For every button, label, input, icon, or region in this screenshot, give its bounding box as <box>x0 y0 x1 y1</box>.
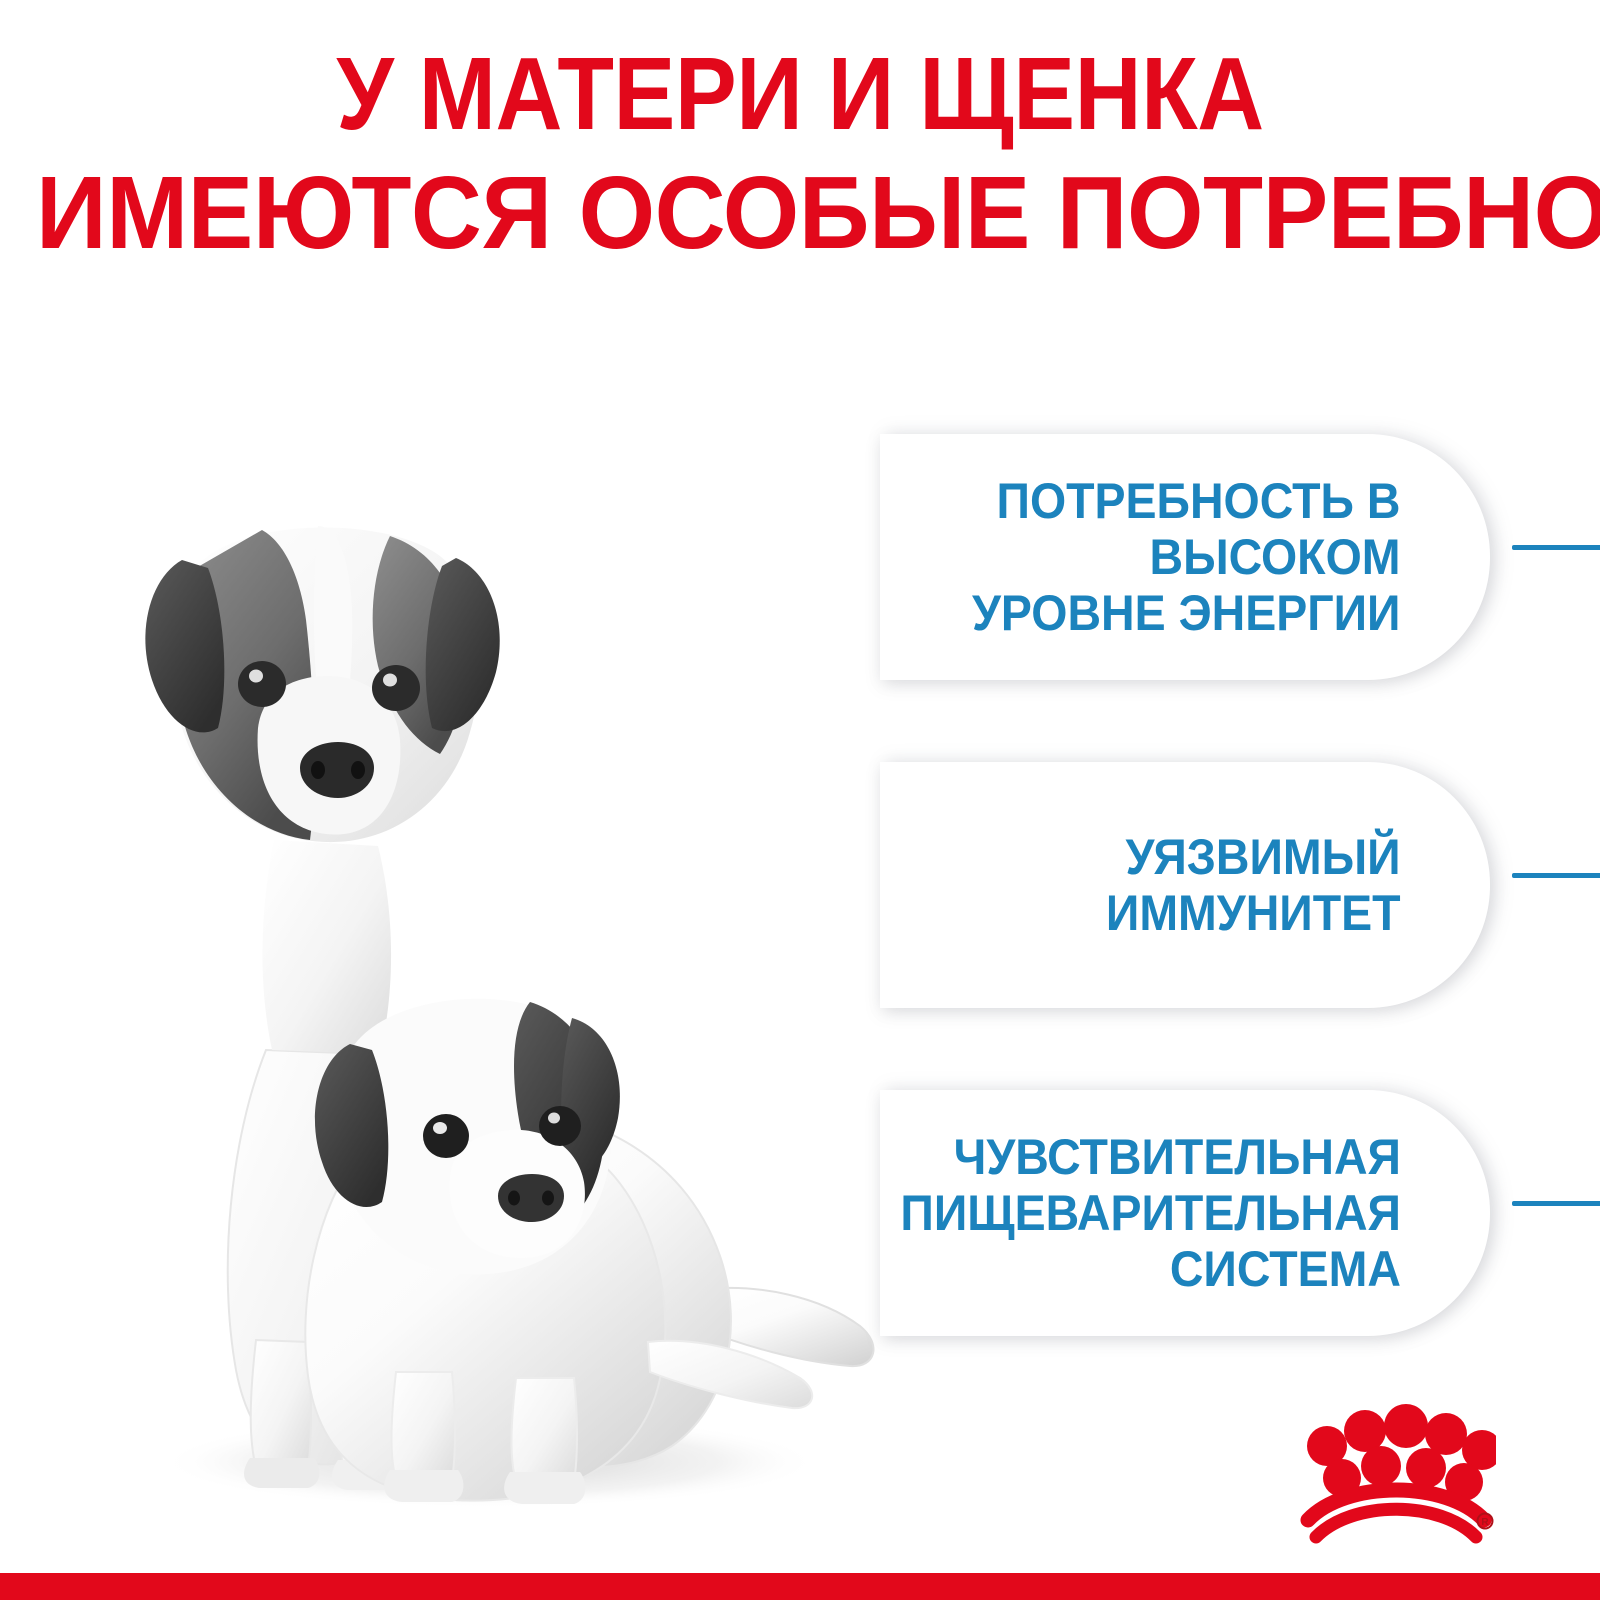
page-title: У МАТЕРИ И ЩЕНКА ИМЕЮТСЯ ОСОБЫЕ ПОТРЕБНО… <box>0 42 1600 264</box>
callout-text-vulnerable-immunity: УЯЗВИМЫЙ ИММУНИТЕТ <box>1106 829 1490 941</box>
svg-text:R: R <box>1481 1517 1489 1528</box>
bottom-red-bar <box>0 1573 1600 1600</box>
callout-text-high-energy: ПОТРЕБНОСТЬ В ВЫСОКОМ УРОВНЕ ЭНЕРГИИ <box>972 473 1490 641</box>
poster-canvas: У МАТЕРИ И ЩЕНКА ИМЕЮТСЯ ОСОБЫЕ ПОТРЕБНО… <box>0 0 1600 1600</box>
connector-line-vulnerable-immunity <box>1512 873 1600 878</box>
callout-card-sensitive-digestion[interactable]: ЧУВСТВИТЕЛЬНАЯ ПИЩЕВАРИТЕЛЬНАЯ СИСТЕМА <box>880 1090 1490 1336</box>
callout-text-sensitive-digestion: ЧУВСТВИТЕЛЬНАЯ ПИЩЕВАРИТЕЛЬНАЯ СИСТЕМА <box>900 1129 1490 1297</box>
connector-line-sensitive-digestion <box>1512 1201 1600 1206</box>
royal-canin-crown-logo: R <box>1286 1404 1496 1554</box>
headline-line-2: ИМЕЮТСЯ ОСОБЫЕ ПОТРЕБНОСТИ <box>36 161 1564 264</box>
connector-line-high-energy <box>1512 545 1600 550</box>
headline-line-1: У МАТЕРИ И ЩЕНКА <box>80 42 1520 145</box>
callout-card-vulnerable-immunity[interactable]: УЯЗВИМЫЙ ИММУНИТЕТ <box>880 762 1490 1008</box>
dog-and-puppy-photo <box>60 410 900 1520</box>
callout-card-high-energy[interactable]: ПОТРЕБНОСТЬ В ВЫСОКОМ УРОВНЕ ЭНЕРГИИ <box>880 434 1490 680</box>
